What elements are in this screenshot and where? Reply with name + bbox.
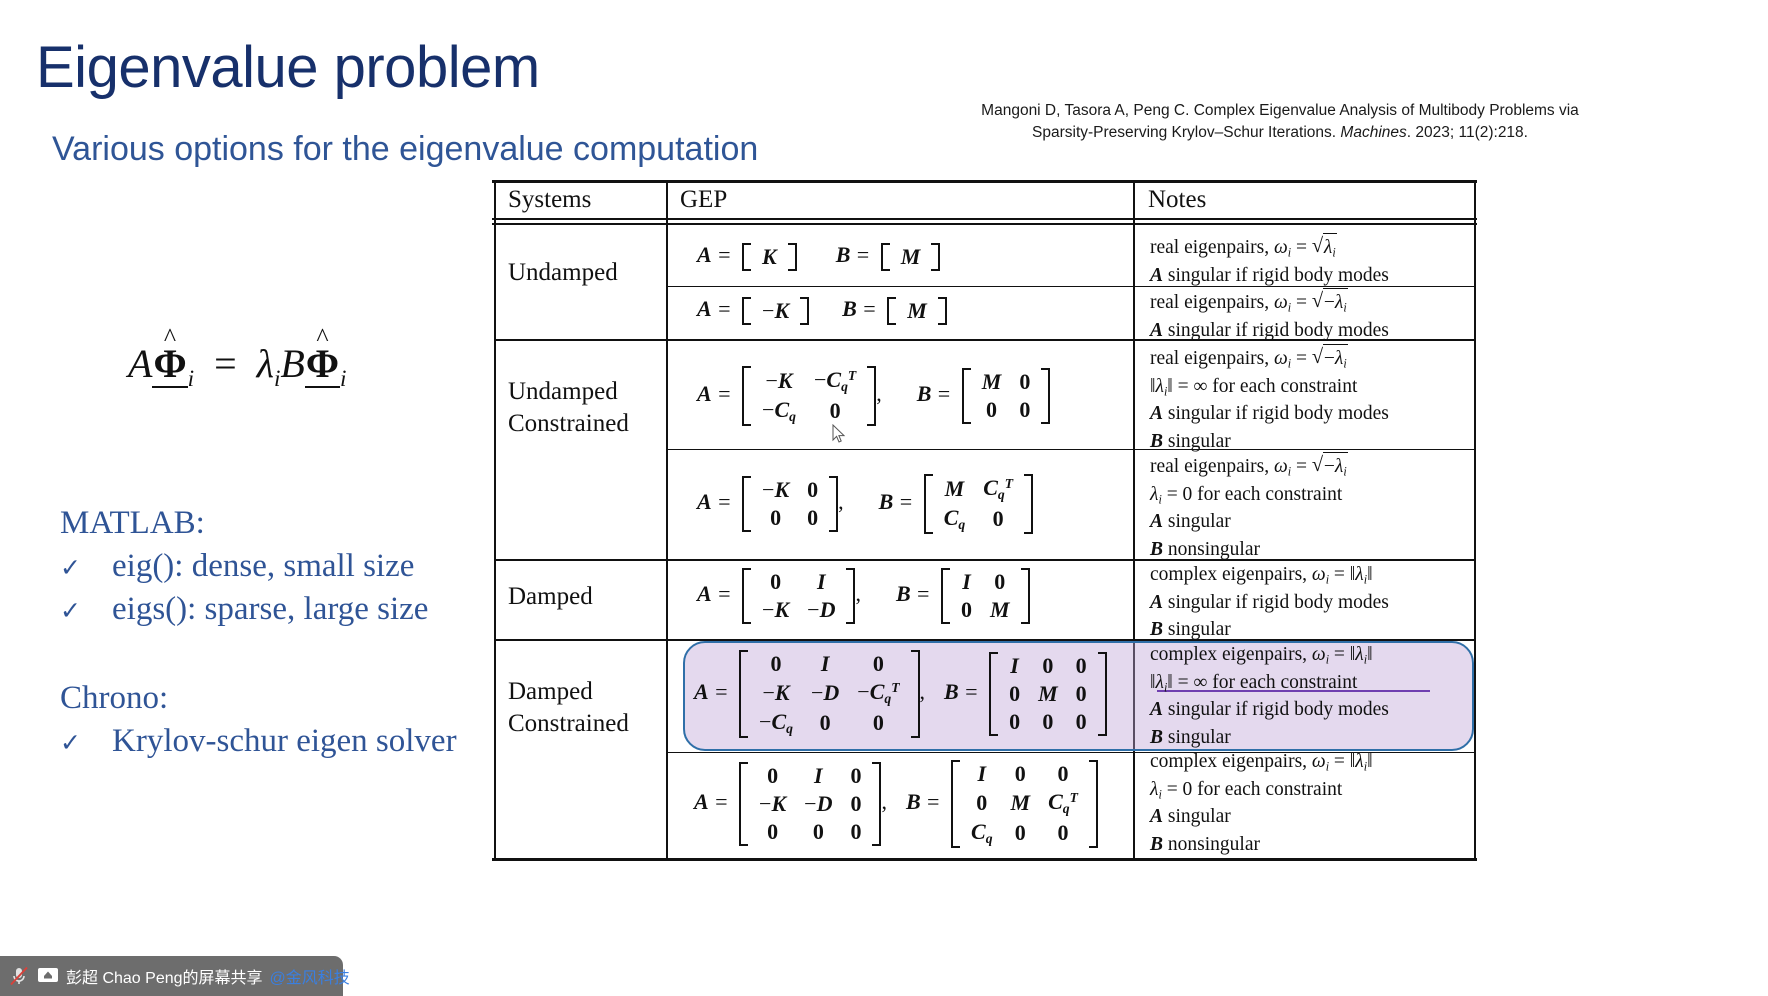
table-row-label-damped: Damped bbox=[508, 581, 593, 613]
note-line: complex eigenpairs, ωi = ‖λi‖ bbox=[1150, 561, 1389, 589]
note-line: real eigenpairs, ωi = −λi bbox=[1150, 288, 1389, 317]
slide-subtitle: Various options for the eigenvalue compu… bbox=[52, 130, 758, 169]
table-row: A= 0I0 −K−D0 000 , B= I00 0MCqT Cq00 bbox=[694, 760, 1098, 848]
table-top-rule bbox=[492, 180, 1477, 183]
check-icon: ✓ bbox=[60, 553, 112, 583]
note-line: complex eigenpairs, ωi = ‖λi‖ bbox=[1150, 641, 1389, 669]
check-icon: ✓ bbox=[60, 728, 112, 758]
note-line: λi = 0 for each constraint bbox=[1150, 481, 1348, 509]
note-line: A singular bbox=[1150, 803, 1373, 830]
note-line: A singular bbox=[1150, 508, 1348, 535]
table-col-sep-1 bbox=[666, 180, 668, 861]
note-line: B nonsingular bbox=[1150, 536, 1348, 563]
citation-journal: Machines bbox=[1340, 124, 1406, 141]
matlab-options-block: MATLAB: ✓ eig(): dense, small size ✓ eig… bbox=[60, 505, 428, 628]
table-row-notes: real eigenpairs, ωi = λi A singular if r… bbox=[1150, 233, 1389, 289]
citation-line-2-post: . 2023; 11(2):218. bbox=[1407, 124, 1528, 141]
check-icon: ✓ bbox=[60, 596, 112, 626]
table-col-sep-2 bbox=[1133, 180, 1135, 861]
table-header-rule-a bbox=[492, 218, 1477, 220]
table-row-label-undamped: Undamped bbox=[508, 257, 618, 289]
list-item: ✓ eigs(): sparse, large size bbox=[60, 591, 428, 628]
screen-share-handle: @金风科技 bbox=[270, 964, 350, 988]
table-left-border bbox=[494, 180, 496, 861]
note-line: A singular if rigid body modes bbox=[1150, 262, 1389, 289]
note-line: ‖λi‖ = ∞ for each constraint bbox=[1150, 669, 1389, 697]
note-line: A singular if rigid body modes bbox=[1150, 696, 1389, 723]
note-line: B singular bbox=[1150, 724, 1389, 751]
table-header-gep: GEP bbox=[680, 186, 727, 214]
table-header-rule-b bbox=[492, 223, 1477, 225]
note-line: ‖λi‖ = ∞ for each constraint bbox=[1150, 373, 1389, 401]
citation-reference: Mangoni D, Tasora A, Peng C. Complex Eig… bbox=[930, 100, 1630, 145]
table-row-notes: complex eigenpairs, ωi = ‖λi‖ ‖λi‖ = ∞ f… bbox=[1150, 641, 1389, 751]
screen-share-label: 彭超 Chao Peng的屏幕共享 bbox=[66, 964, 263, 988]
table-row: A= −K0 00 , B= MCqT Cq0 bbox=[697, 474, 1033, 534]
table-row-label-damped-constrained: DampedConstrained bbox=[508, 676, 629, 740]
table-row-notes: complex eigenpairs, ωi = ‖λi‖ λi = 0 for… bbox=[1150, 748, 1373, 858]
matlab-item-label: eigs(): sparse, large size bbox=[112, 591, 428, 628]
list-item: ✓ Krylov-schur eigen solver bbox=[60, 723, 457, 760]
matlab-item-label: eig(): dense, small size bbox=[112, 548, 414, 585]
table-row: A= −K B= M bbox=[697, 296, 947, 325]
chrono-options-block: Chrono: ✓ Krylov-schur eigen solver bbox=[60, 680, 457, 760]
list-item: ✓ eig(): dense, small size bbox=[60, 548, 428, 585]
table-row-notes: real eigenpairs, ωi = −λi ‖λi‖ = ∞ for e… bbox=[1150, 344, 1389, 455]
table-header-systems: Systems bbox=[508, 186, 591, 214]
table-right-border bbox=[1474, 180, 1476, 861]
note-line: real eigenpairs, ωi = −λi bbox=[1150, 344, 1389, 373]
table-row-label-undamped-constrained: UndampedConstrained bbox=[508, 376, 629, 440]
table-row: A= −K−CqT −Cq0 , B= M0 00 bbox=[697, 366, 1050, 426]
screen-share-icon[interactable] bbox=[37, 967, 59, 985]
note-line: complex eigenpairs, ωi = ‖λi‖ bbox=[1150, 748, 1373, 776]
slide-canvas: Eigenvalue problem Various options for t… bbox=[0, 0, 1768, 996]
table-header-notes: Notes bbox=[1148, 186, 1206, 214]
note-line: real eigenpairs, ωi = λi bbox=[1150, 233, 1389, 262]
note-line: A singular if rigid body modes bbox=[1150, 589, 1389, 616]
note-line: A singular if rigid body modes bbox=[1150, 317, 1389, 344]
table-row: A= K B= M bbox=[697, 242, 940, 271]
citation-line-1: Mangoni D, Tasora A, Peng C. Complex Eig… bbox=[981, 102, 1579, 119]
table-row-notes: real eigenpairs, ωi = −λi A singular if … bbox=[1150, 288, 1389, 344]
microphone-muted-icon[interactable] bbox=[8, 965, 30, 987]
screen-share-taskbar[interactable]: 彭超 Chao Peng的屏幕共享 @金风科技 bbox=[0, 956, 343, 996]
chrono-heading: Chrono: bbox=[60, 680, 457, 717]
note-line: B nonsingular bbox=[1150, 831, 1373, 858]
note-line: B singular bbox=[1150, 616, 1389, 643]
page-title: Eigenvalue problem bbox=[36, 34, 540, 101]
table-bottom-rule bbox=[492, 858, 1477, 861]
citation-line-2-pre: Sparsity-Preserving Krylov–Schur Iterati… bbox=[1032, 124, 1340, 141]
main-equation: A^Φi = λiB^Φi bbox=[128, 340, 346, 393]
note-line: λi = 0 for each constraint bbox=[1150, 776, 1373, 804]
note-line: real eigenpairs, ωi = −λi bbox=[1150, 452, 1348, 481]
table-row-notes: complex eigenpairs, ωi = ‖λi‖ A singular… bbox=[1150, 561, 1389, 644]
table-row: A= 0I −K−D , B= I0 0M bbox=[697, 568, 1030, 624]
matlab-heading: MATLAB: bbox=[60, 505, 428, 542]
mouse-cursor bbox=[832, 424, 846, 444]
note-line: A singular if rigid body modes bbox=[1150, 400, 1389, 427]
table-row-notes: real eigenpairs, ωi = −λi λi = 0 for eac… bbox=[1150, 452, 1348, 563]
table-row: A= 0I0 −K−D−CqT −Cq00 , B= I00 0M0 000 bbox=[694, 650, 1107, 738]
chrono-item-label: Krylov-schur eigen solver bbox=[112, 723, 457, 760]
